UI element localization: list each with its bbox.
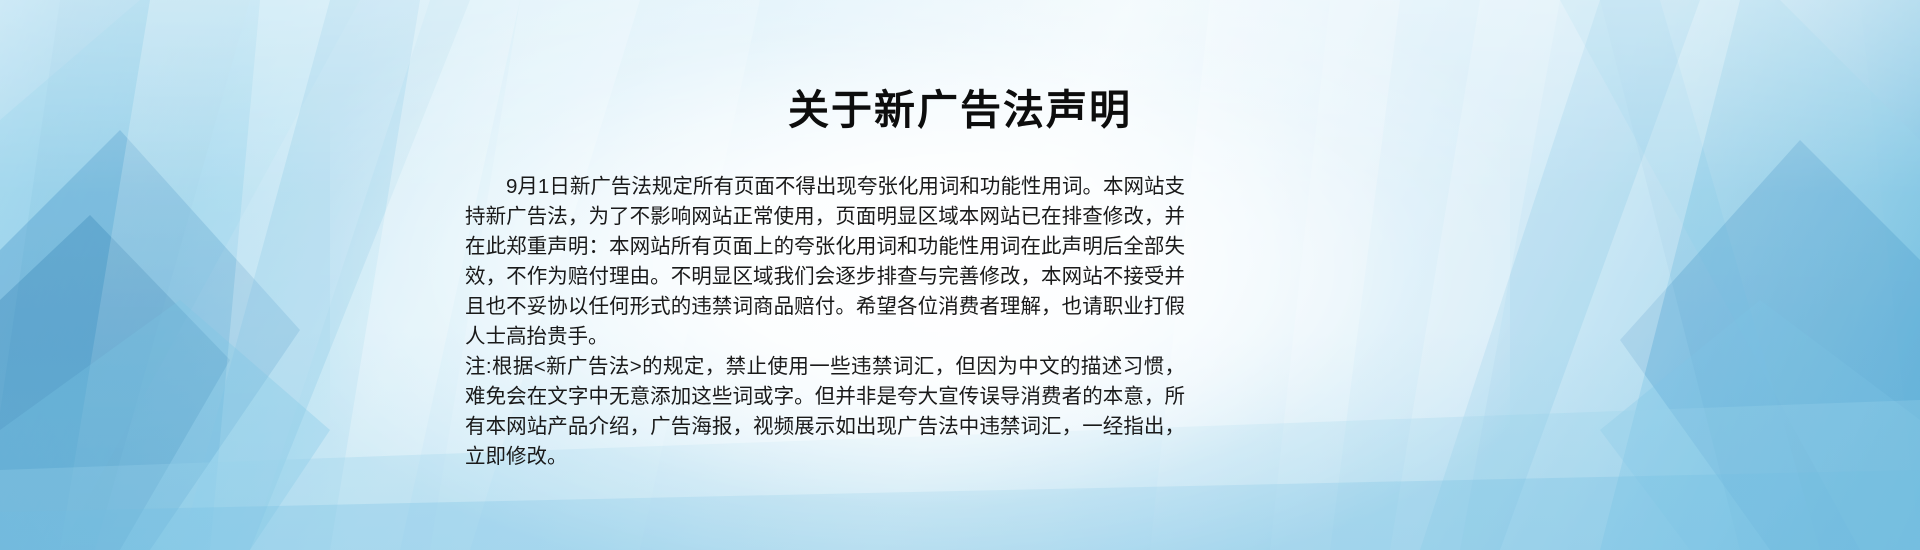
statement-paragraph-2: 注:根据<新广告法>的规定，禁止使用一些违禁词汇，但因为中文的描述习惯，难免会在… (465, 352, 1185, 472)
statement-body: 9月1日新广告法规定所有页面不得出现夸张化用词和功能性用词。本网站支持新广告法，… (465, 172, 1185, 472)
statement-paragraph-1: 9月1日新广告法规定所有页面不得出现夸张化用词和功能性用词。本网站支持新广告法，… (465, 172, 1185, 352)
statement-content: 关于新广告法声明 9月1日新广告法规定所有页面不得出现夸张化用词和功能性用词。本… (0, 0, 1920, 550)
advertising-law-statement-banner: 关于新广告法声明 9月1日新广告法规定所有页面不得出现夸张化用词和功能性用词。本… (0, 0, 1920, 550)
page-title: 关于新广告法声明 (0, 86, 1920, 135)
